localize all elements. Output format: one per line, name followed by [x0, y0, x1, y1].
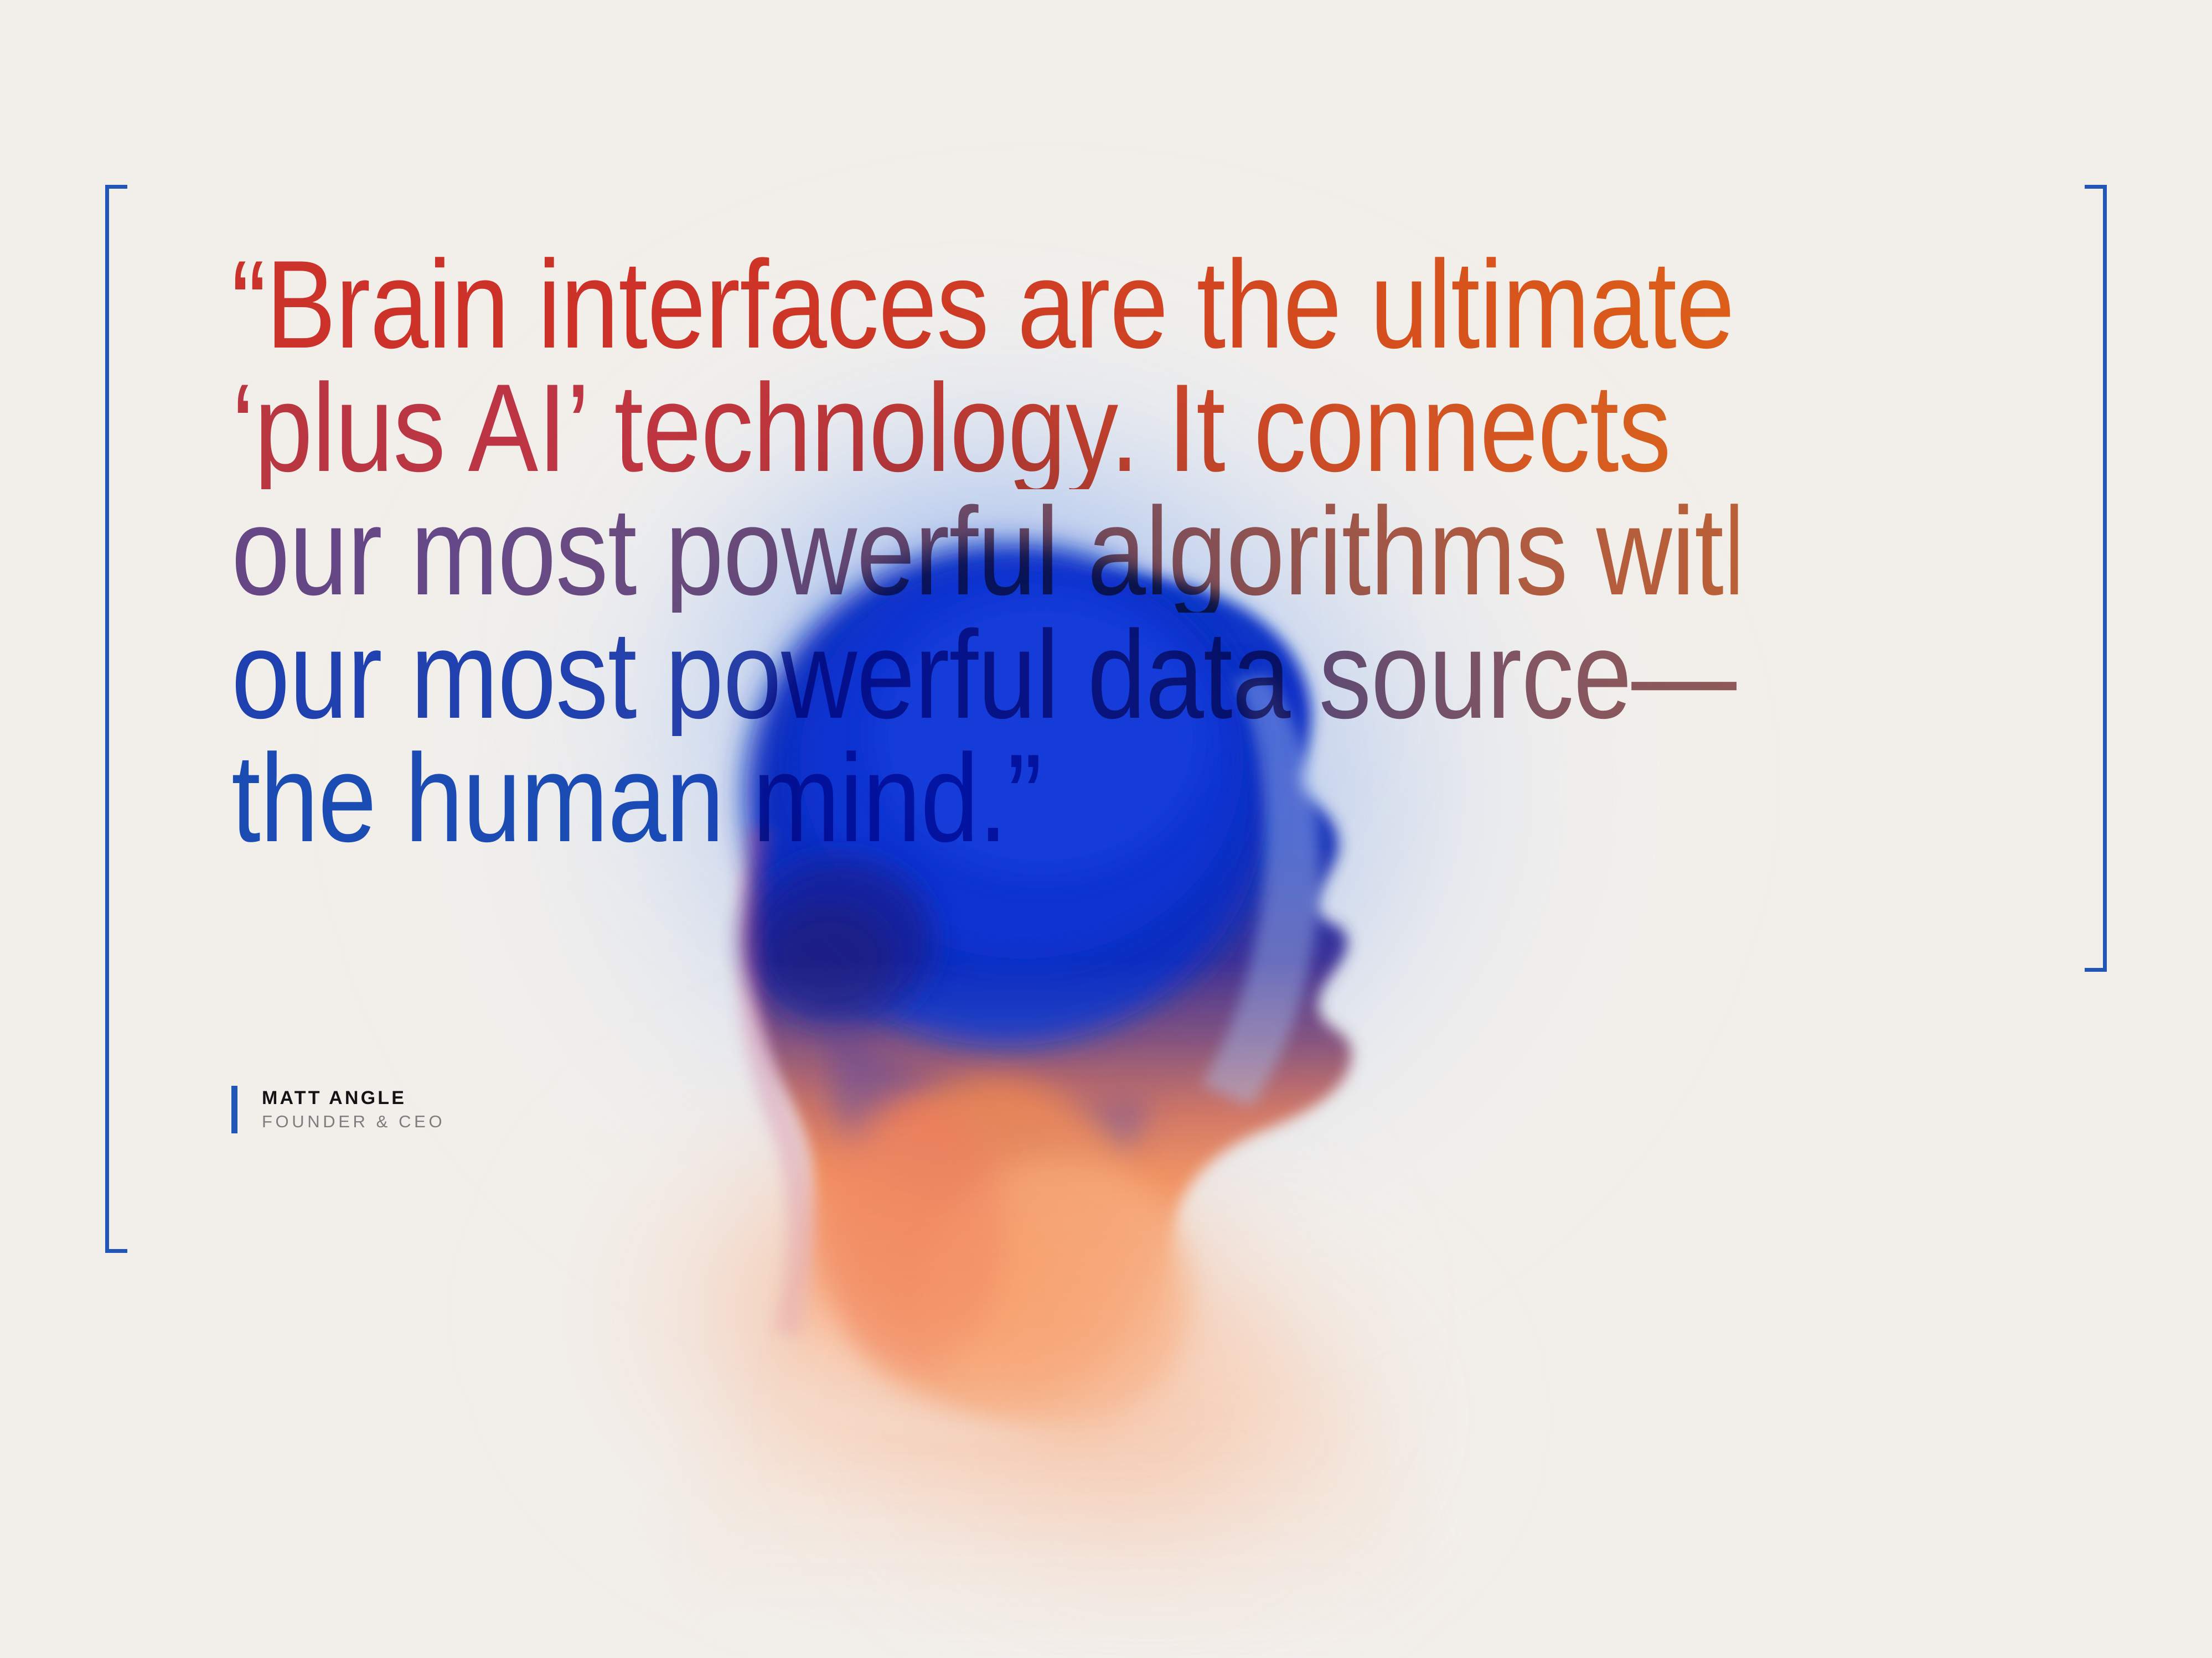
quote-line-1: “Brain interfaces are the ultimate: [231, 242, 1738, 366]
attribution-rule: [231, 1086, 237, 1133]
quote-slide: “Brain interfaces are the ultimate ‘plus…: [0, 0, 2212, 1658]
bracket-left: [105, 185, 127, 1253]
quote-line-5: the human mind.”: [231, 736, 1738, 859]
bracket-left-bottom-arm: [105, 1249, 127, 1253]
bracket-left-top-arm: [105, 185, 127, 189]
bracket-right-top-arm: [2085, 185, 2107, 189]
quote-line-2: ‘plus AI’ technology. It connects: [231, 366, 1738, 489]
bracket-left-vertical: [105, 185, 109, 1253]
attribution-name: MATT ANGLE: [262, 1086, 445, 1110]
attribution-text: MATT ANGLE FOUNDER & CEO: [262, 1086, 445, 1133]
quote-line-3: our most powerful algorithms with: [231, 489, 1738, 613]
quote-attribution: MATT ANGLE FOUNDER & CEO: [231, 1086, 445, 1133]
pull-quote: “Brain interfaces are the ultimate ‘plus…: [231, 242, 2025, 859]
bracket-right-vertical: [2103, 185, 2107, 972]
bracket-right: [2085, 185, 2107, 972]
bracket-right-bottom-arm: [2085, 968, 2107, 972]
quote-line-4: our most powerful data source—: [231, 613, 1738, 736]
attribution-role: FOUNDER & CEO: [262, 1110, 445, 1133]
